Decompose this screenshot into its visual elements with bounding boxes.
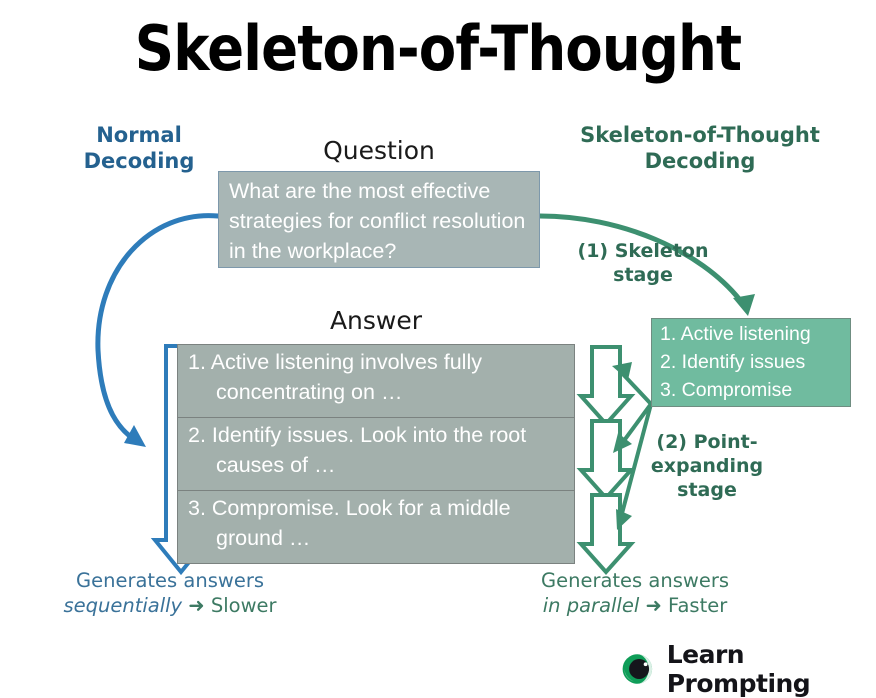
parallel-output-arrow-3 bbox=[581, 495, 631, 572]
answer-row: 2. Identify issues. Look into the root c… bbox=[178, 418, 574, 491]
footnote-line1: Generates answers bbox=[76, 569, 264, 592]
sot-decoding-footnote: Generates answers in parallel ➜ Faster bbox=[470, 568, 800, 618]
point-expanding-stage-label: (2) Point- expanding stage bbox=[632, 430, 782, 502]
astronaut-helmet-icon bbox=[620, 650, 655, 688]
question-label: Question bbox=[218, 136, 540, 165]
footnote-emphasis: sequentially bbox=[63, 594, 182, 617]
page-title: Skeleton-of-Thought bbox=[53, 12, 824, 85]
answer-row-text: 1. Active listening involves fully conce… bbox=[188, 347, 566, 407]
footnote-line1: Generates answers bbox=[541, 569, 729, 592]
learn-prompting-logo: Learn Prompting bbox=[620, 640, 876, 698]
skeleton-box: 1. Active listening 2. Identify issues 3… bbox=[651, 318, 851, 407]
diagram-canvas: Skeleton-of-Thought Normal Decoding Skel… bbox=[0, 0, 876, 698]
arrow-right-icon: ➜ bbox=[188, 594, 204, 617]
footnote-emphasis: in parallel bbox=[543, 594, 640, 617]
arrow-right-icon: ➜ bbox=[645, 594, 661, 617]
normal-decoding-footnote: Generates answers sequentially ➜ Slower bbox=[10, 568, 330, 618]
footnote-tail: Slower bbox=[211, 594, 277, 617]
answer-row-text: 3. Compromise. Look for a middle ground … bbox=[188, 493, 566, 553]
parallel-output-arrow-2 bbox=[581, 421, 631, 498]
skeleton-stage-label: (1) Skeleton stage bbox=[558, 239, 728, 287]
skeleton-of-thought-decoding-heading: Skeleton-of-Thought Decoding bbox=[540, 122, 860, 174]
parallel-output-arrow-1 bbox=[581, 347, 631, 424]
answer-box: 1. Active listening involves fully conce… bbox=[177, 344, 575, 564]
question-text: What are the most effective strategies f… bbox=[229, 176, 535, 266]
question-box: What are the most effective strategies f… bbox=[218, 171, 540, 268]
answer-label: Answer bbox=[177, 306, 575, 335]
footnote-tail: Faster bbox=[668, 594, 727, 617]
answer-row: 1. Active listening involves fully conce… bbox=[178, 345, 574, 418]
answer-row: 3. Compromise. Look for a middle ground … bbox=[178, 491, 574, 563]
answer-row-text: 2. Identify issues. Look into the root c… bbox=[188, 420, 566, 480]
logo-text: Learn Prompting bbox=[667, 640, 876, 698]
skeleton-text: 1. Active listening 2. Identify issues 3… bbox=[660, 320, 850, 404]
